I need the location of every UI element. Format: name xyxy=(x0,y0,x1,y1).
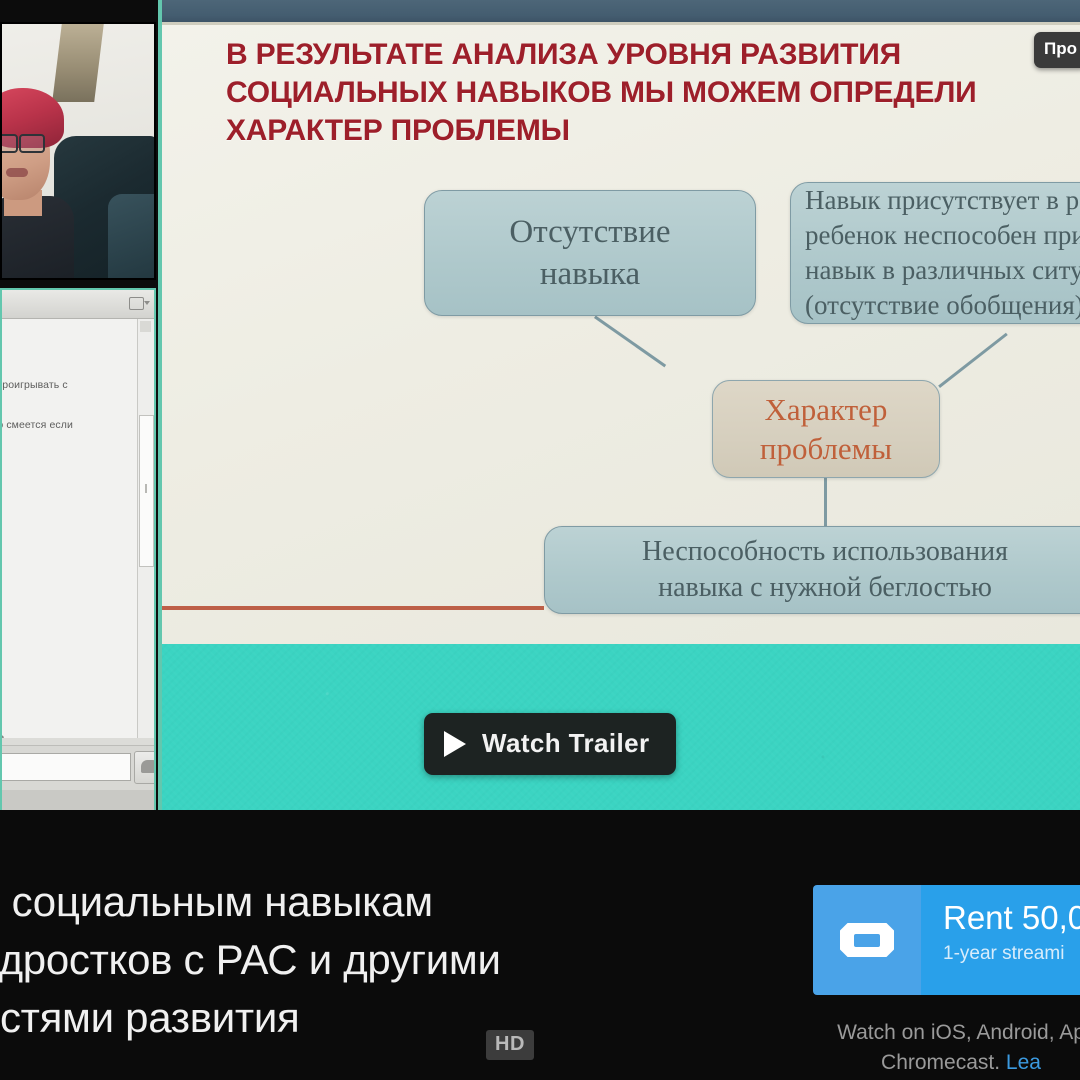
share-border-left xyxy=(158,0,162,855)
diagram-node-character: Характер проблемы xyxy=(712,380,940,478)
chat-input[interactable] xyxy=(0,753,131,781)
diagram-node-absence-label: Отсутствие навыка xyxy=(509,211,670,295)
speech-bubble-icon xyxy=(141,760,156,773)
diagram-node-present: Навык присутствует в репертуа ребенок не… xyxy=(790,182,1080,324)
scrollbar-up-arrow[interactable] xyxy=(140,321,151,332)
shared-screen-top-band xyxy=(160,0,1080,22)
chat-send-button[interactable] xyxy=(134,751,156,784)
rent-price-label: Rent 50,00 xyxy=(943,901,1080,936)
chat-message-list[interactable]: ть и проигрывать с к часто смеется если … xyxy=(2,319,142,738)
scrollbar-thumb[interactable] xyxy=(139,415,154,567)
chat-message: ка xyxy=(2,733,4,738)
connector-absence-to-character xyxy=(594,316,666,367)
rent-button[interactable]: Rent 50,00 1-year streami xyxy=(813,885,1080,995)
stage-letterbox-bottom xyxy=(0,810,1080,855)
watch-trailer-label: Watch Trailer xyxy=(482,728,650,759)
hd-badge: HD xyxy=(486,1030,534,1060)
play-triangle-icon xyxy=(444,731,466,757)
chat-input-row[interactable] xyxy=(2,745,156,790)
chat-message: ть и проигрывать с xyxy=(2,379,68,391)
watch-trailer-button[interactable]: Watch Trailer xyxy=(424,713,676,775)
chat-message: к часто смеется если xyxy=(2,419,73,431)
screen-share-badge[interactable]: Про xyxy=(1034,32,1080,68)
chat-titlebar[interactable] xyxy=(2,290,154,319)
watch-on-devices-text: Watch on iOS, Android, Ap Chromecast. Le… xyxy=(746,1018,1080,1079)
slide-divider-left xyxy=(162,606,544,610)
video-player-stage[interactable]: В РЕЗУЛЬТАТЕ АНАЛИЗА УРОВНЯ РАЗВИТИЯ СОЦ… xyxy=(0,0,1080,855)
slide-top-hairline xyxy=(162,22,1080,25)
webcam-person-mouth xyxy=(6,168,28,177)
connector-character-to-fluency xyxy=(824,478,827,528)
diagram-node-absence: Отсутствие навыка xyxy=(424,190,756,316)
diagram-node-fluency: Неспособность использования навыка с нуж… xyxy=(544,526,1080,614)
window-menu-icon[interactable] xyxy=(129,297,144,310)
chat-scrollbar[interactable] xyxy=(137,319,154,738)
slide-title: В РЕЗУЛЬТАТЕ АНАЛИЗА УРОВНЯ РАЗВИТИЯ СОЦ… xyxy=(226,36,1056,150)
diagram-node-character-label: Характер проблемы xyxy=(760,390,892,468)
watch-on-line2: Chromecast. xyxy=(881,1051,1006,1074)
presenter-webcam[interactable] xyxy=(0,22,156,280)
connector-present-to-character xyxy=(938,333,1007,388)
rent-text-pane: Rent 50,00 1-year streami xyxy=(921,885,1080,995)
diagram-node-fluency-label: Неспособность использования навыка с нуж… xyxy=(642,534,1008,607)
chevron-down-icon[interactable] xyxy=(144,301,150,305)
ticket-icon xyxy=(840,923,894,957)
chat-window[interactable]: ть и проигрывать с к часто смеется если … xyxy=(0,288,156,818)
video-title: ие социальным навыкам подростков с РАС и… xyxy=(0,873,784,1047)
webcam-chair-back xyxy=(108,194,156,280)
learn-more-link[interactable]: Lea xyxy=(1006,1051,1041,1074)
watch-on-line1: Watch on iOS, Android, Ap xyxy=(837,1021,1080,1044)
rent-subtitle-label: 1-year streami xyxy=(943,943,1080,965)
presentation-slide: В РЕЗУЛЬТАТЕ АНАЛИЗА УРОВНЯ РАЗВИТИЯ СОЦ… xyxy=(162,22,1080,644)
diagram-node-present-label: Навык присутствует в репертуа ребенок не… xyxy=(805,183,1080,323)
webcam-person-glasses xyxy=(0,134,48,149)
ticket-icon-pane xyxy=(813,885,921,995)
